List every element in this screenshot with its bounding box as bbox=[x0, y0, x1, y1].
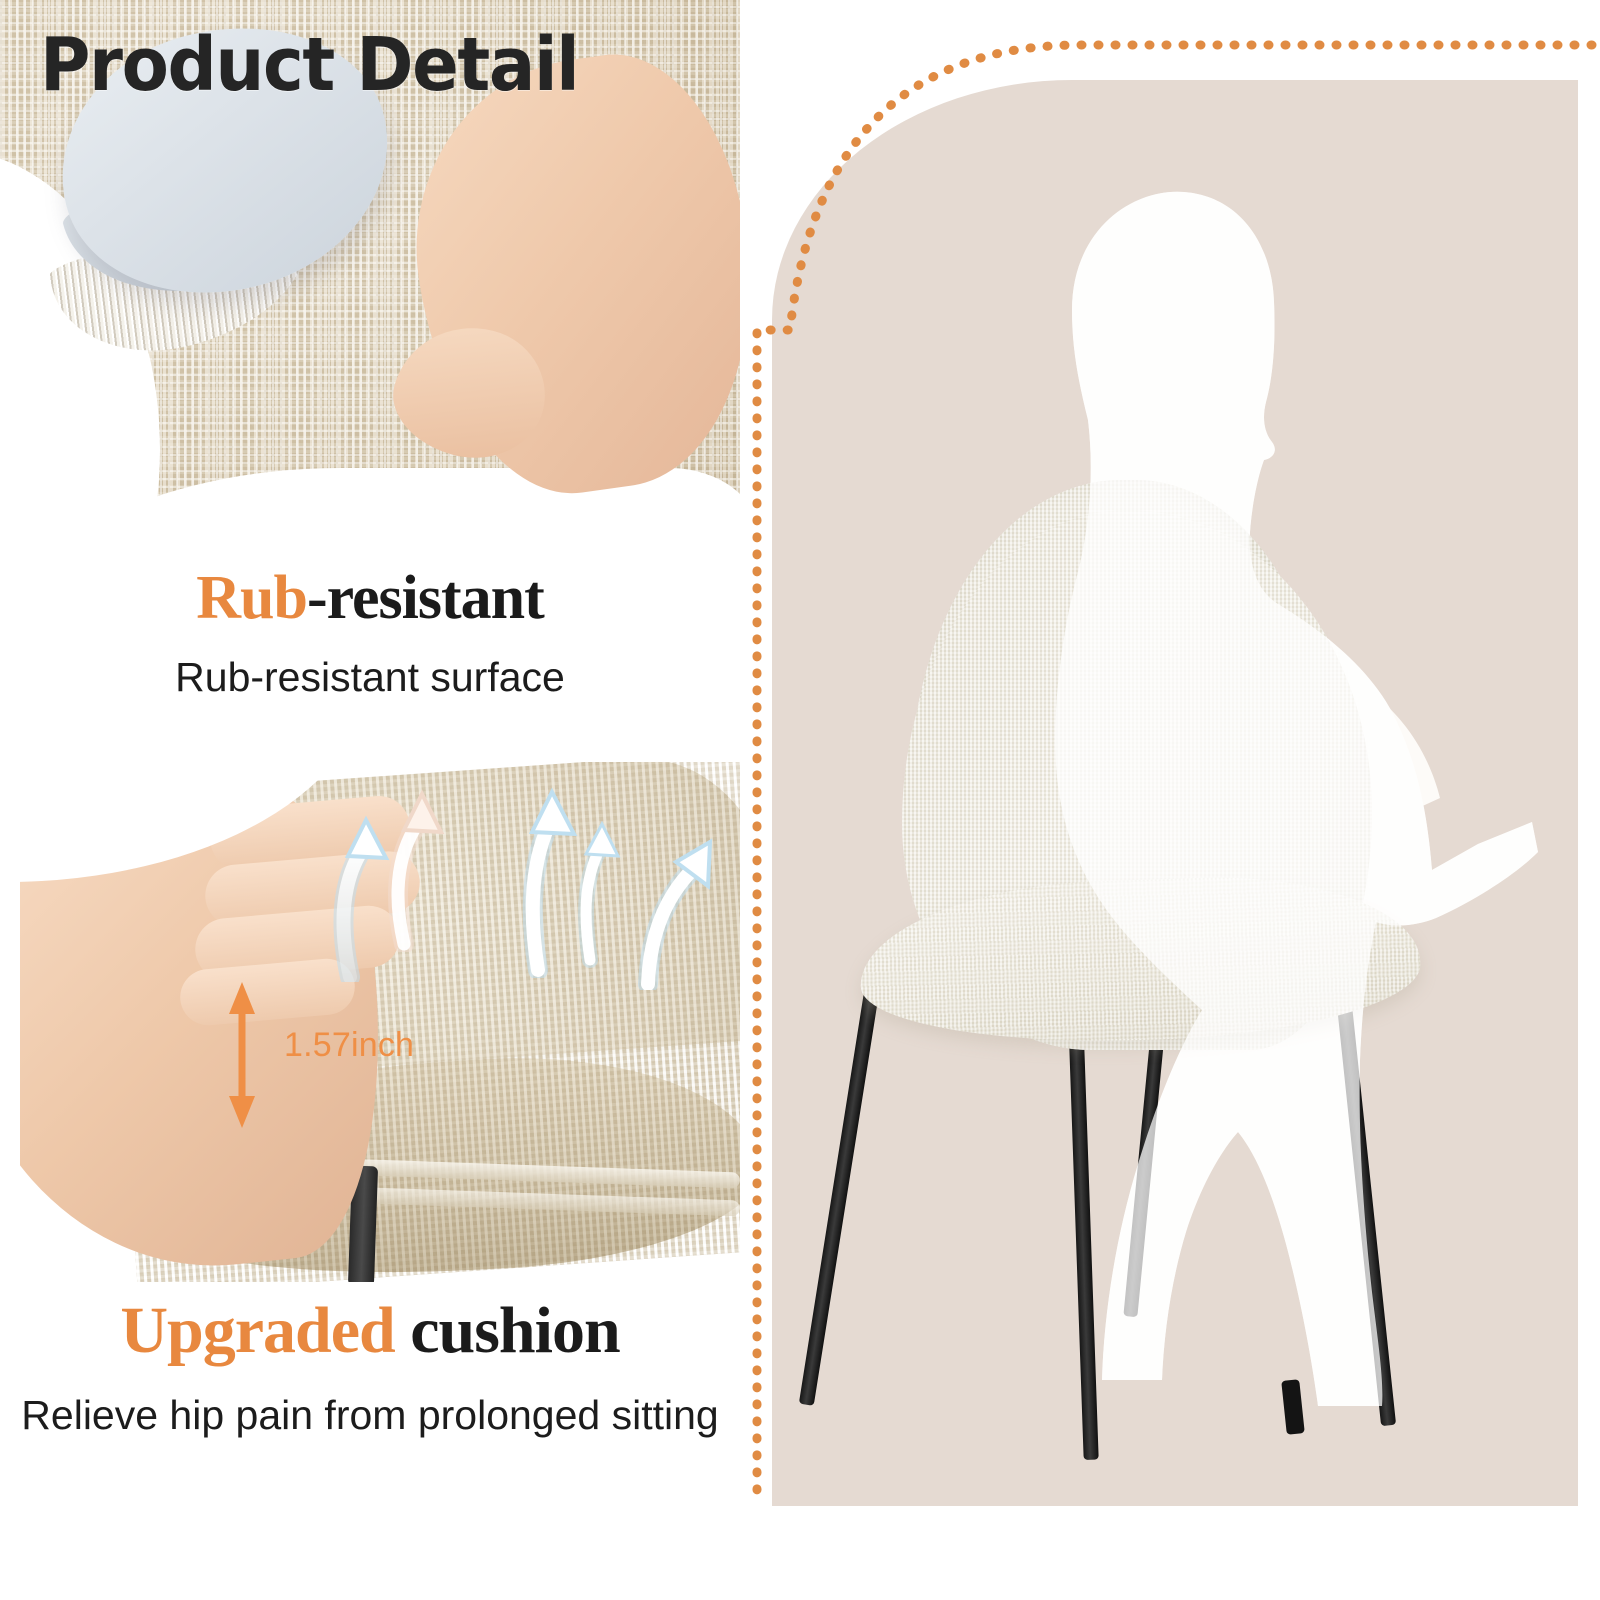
feature-title-highlight: Rub bbox=[196, 564, 307, 632]
double-arrow-icon bbox=[222, 980, 262, 1130]
airflow-arrow-2-icon bbox=[378, 762, 468, 952]
feature-title-rest: cushion bbox=[395, 1294, 620, 1367]
feature-title-rest: -resistant bbox=[307, 564, 544, 632]
feature-heading-rub-resistant: Rub-resistant Rub-resistant surface bbox=[0, 566, 740, 704]
page-title: Product Detail bbox=[40, 22, 578, 108]
feature-title: Rub-resistant bbox=[0, 566, 740, 631]
feature-subcopy: Relieve hip pain from prolonged sitting bbox=[0, 1389, 740, 1441]
left-column: Rub-resistant Rub-resistant surface bbox=[0, 0, 750, 1600]
thickness-measurement: 1.57inch bbox=[222, 980, 482, 1130]
feature-heading-upgraded-cushion: Upgraded cushion Relieve hip pain from p… bbox=[0, 1296, 740, 1442]
infographic-canvas: Rub-resistant Rub-resistant surface bbox=[0, 0, 1600, 1600]
feature-title-highlight: Upgraded bbox=[120, 1294, 394, 1367]
feature-subcopy: Rub-resistant surface bbox=[0, 651, 740, 703]
lifestyle-panel bbox=[772, 80, 1578, 1506]
airflow-arrow-5-icon bbox=[624, 800, 724, 990]
feature-title: Upgraded cushion bbox=[0, 1296, 740, 1365]
thickness-label: 1.57inch bbox=[284, 1026, 414, 1065]
silhouette-overlay bbox=[772, 80, 1578, 1506]
